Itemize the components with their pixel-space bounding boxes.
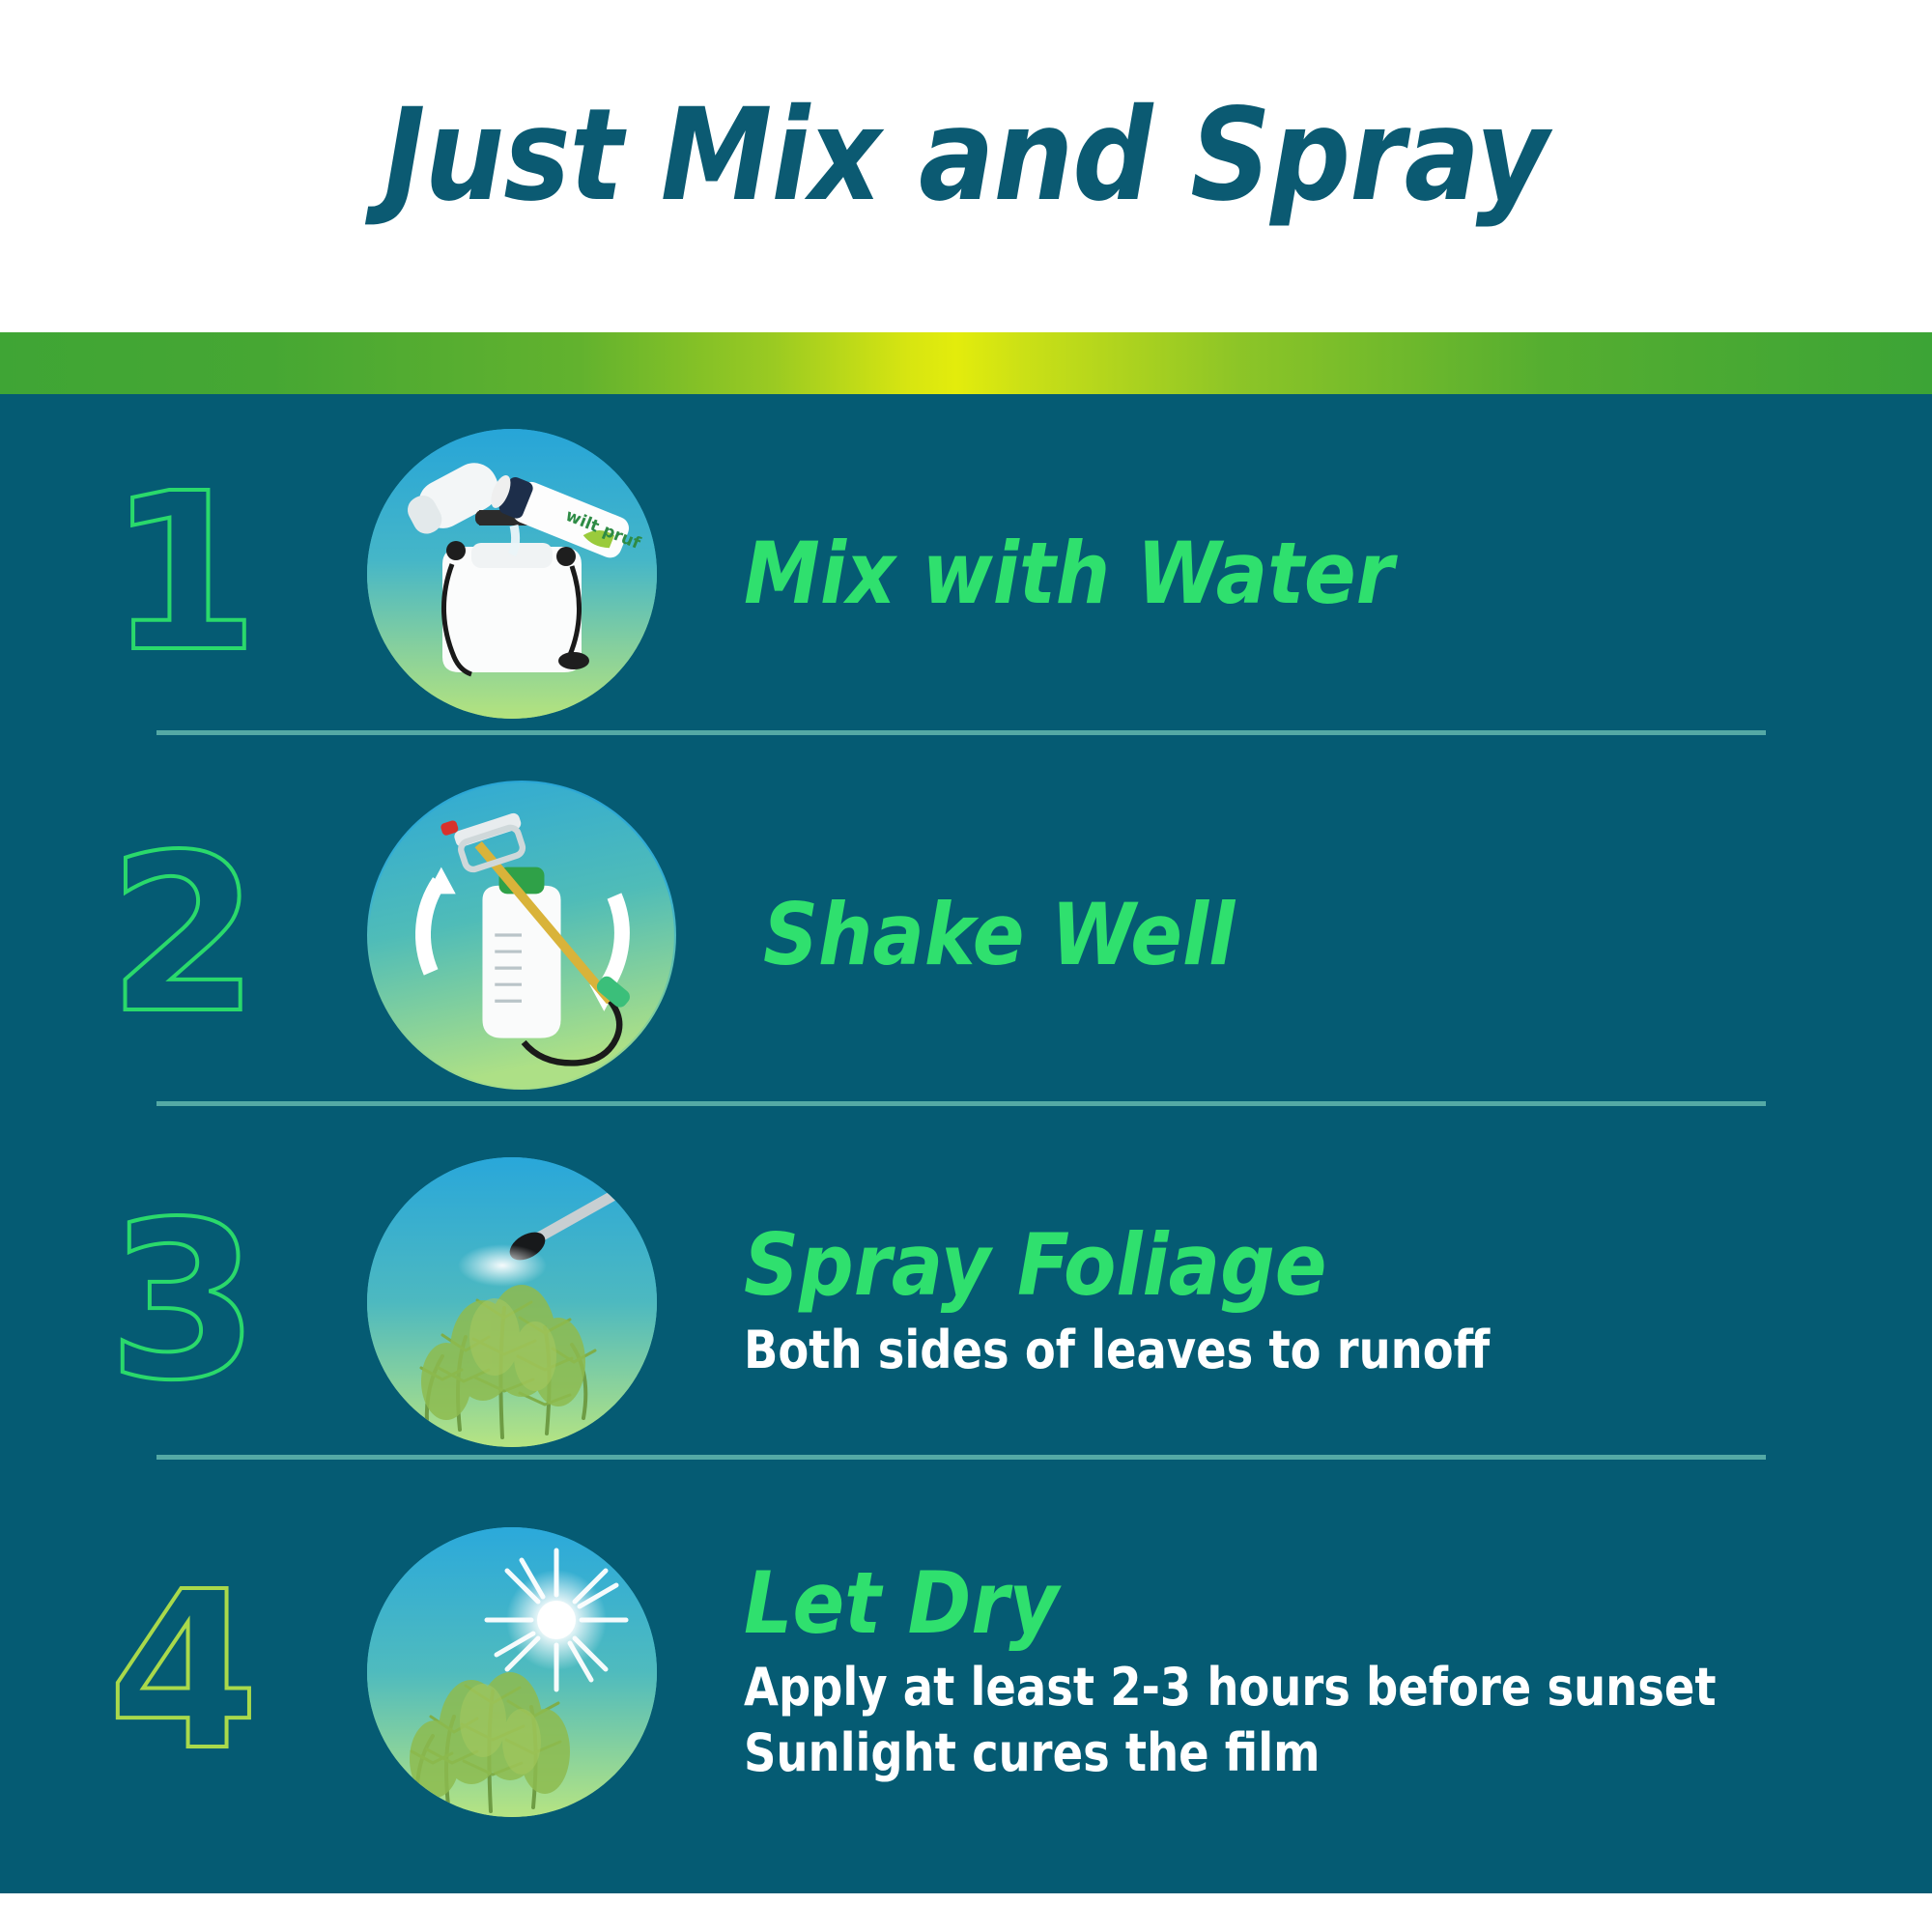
step-heading-1: Mix with Water: [744, 529, 1813, 618]
step-subtext-4-line-1: Apply at least 2-3 hours before sunset: [744, 1655, 1766, 1720]
step-image-3: [367, 1157, 657, 1447]
step-divider-3: [156, 1455, 1766, 1460]
step-heading-3: Spray Foliage: [744, 1221, 1813, 1310]
infographic-page: Just Mix and Spray 1: [0, 0, 1932, 1932]
header: Just Mix and Spray: [0, 0, 1932, 328]
step-item-1: 1: [0, 406, 1932, 742]
step-heading-2: Shake Well: [763, 891, 1815, 980]
step-divider-1: [156, 730, 1766, 735]
sun-drying-foliage-icon: [367, 1527, 657, 1817]
step-image-4: [367, 1527, 657, 1817]
step-text-4: Let Dry Apply at least 2-3 hours before …: [657, 1559, 1932, 1786]
step-subtext-4-line-2: Sunlight cures the film: [744, 1720, 1766, 1786]
shake-sprayer-icon: [367, 781, 676, 1090]
spray-foliage-icon: [367, 1157, 657, 1447]
step-item-3: 3: [0, 1128, 1932, 1476]
step-text-3: Spray Foliage Both sides of leaves to ru…: [657, 1221, 1932, 1382]
step-image-1: wilt pruf: [367, 429, 657, 719]
steps-panel: 1: [0, 394, 1932, 1893]
step-subtext-3-line-1: Both sides of leaves to runoff: [744, 1318, 1766, 1383]
step-number-3: 3: [0, 1194, 367, 1411]
page-title: Just Mix and Spray: [384, 89, 1548, 241]
step-number-2: 2: [0, 827, 367, 1044]
steps-list: 1: [0, 394, 1932, 1893]
sprayer-tank-icon: wilt pruf: [367, 429, 657, 719]
gradient-divider-bar: [0, 332, 1932, 394]
step-divider-2: [156, 1101, 1766, 1106]
step-text-1: Mix with Water: [657, 529, 1932, 618]
step-item-2: 2: [0, 752, 1932, 1119]
step-image-2: [367, 781, 676, 1090]
step-text-2: Shake Well: [676, 891, 1932, 980]
step-number-4: 4: [0, 1564, 367, 1781]
step-item-4: 4: [0, 1484, 1932, 1861]
step-number-1: 1: [0, 466, 367, 683]
step-heading-4: Let Dry: [744, 1559, 1813, 1648]
